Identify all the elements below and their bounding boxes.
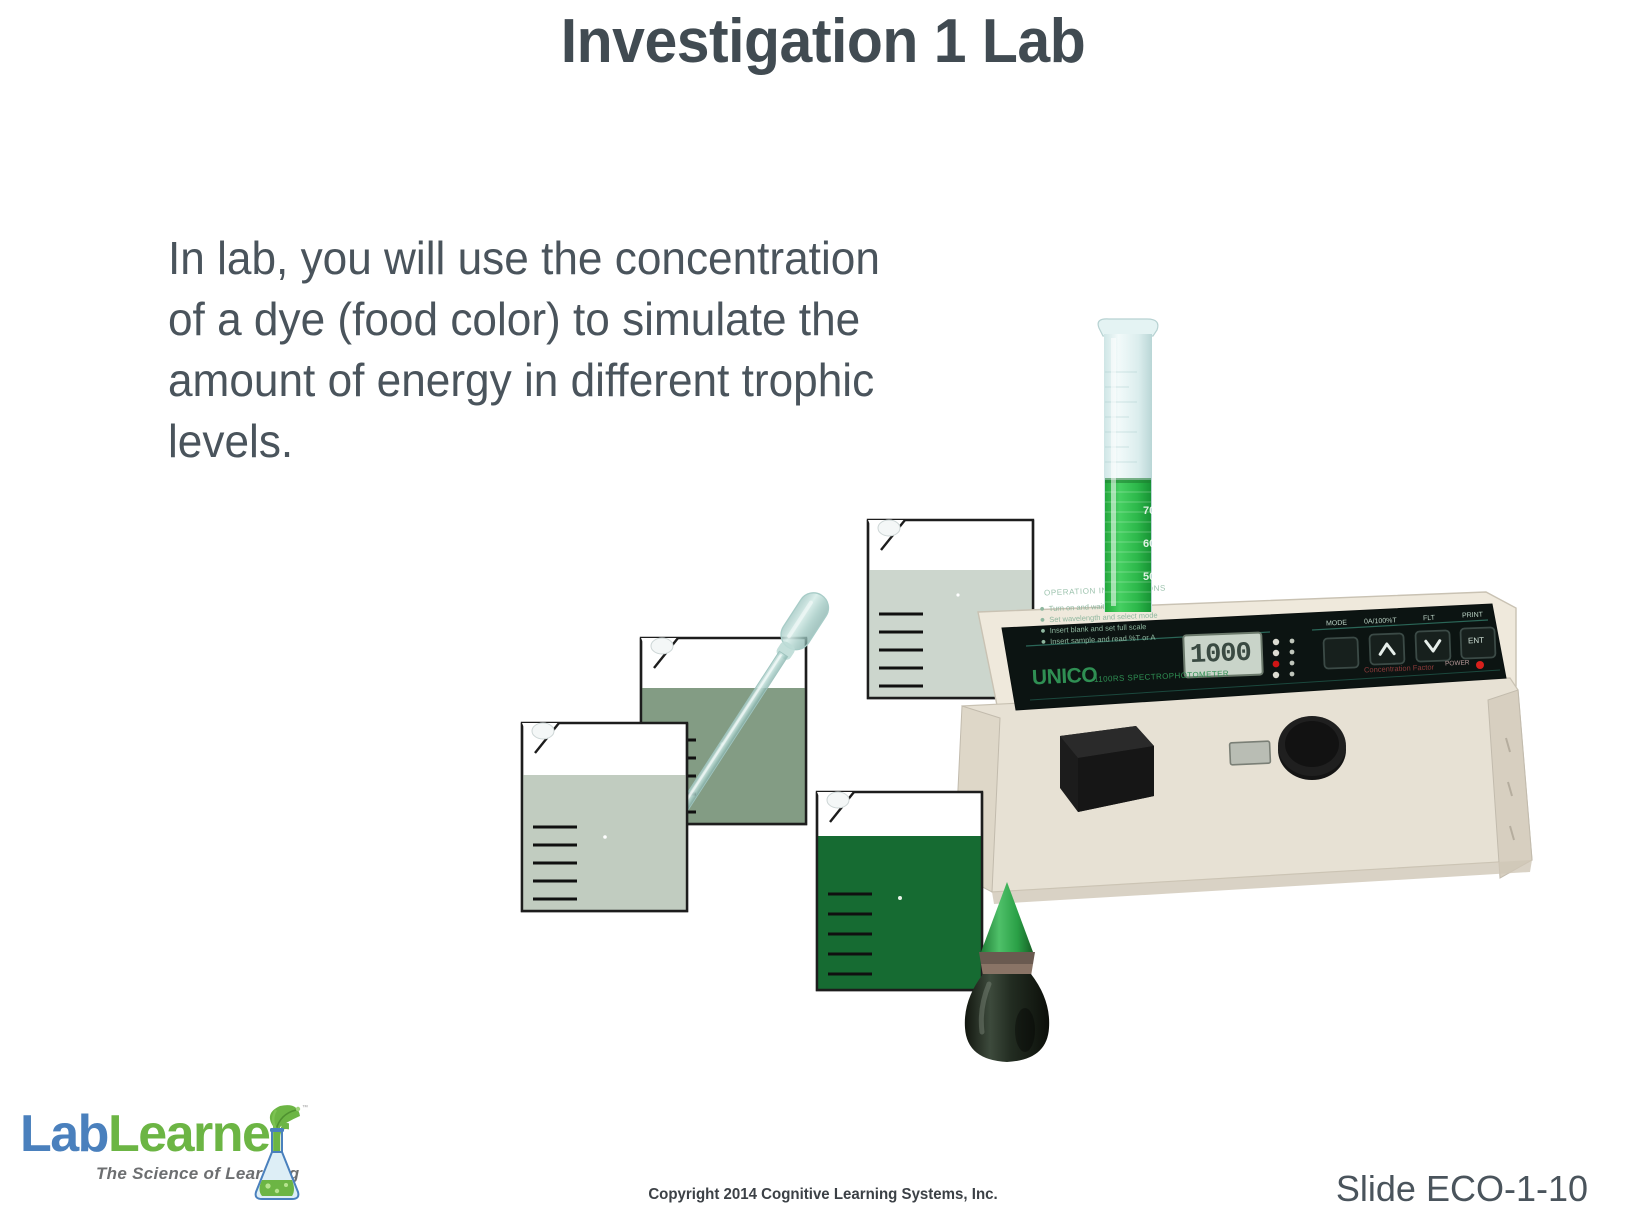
svg-text:™: ™: [302, 1104, 308, 1111]
rubber-bulb-dropper: [955, 880, 1065, 1065]
bullet-icon: ●: [1041, 637, 1047, 646]
bullet-icon: ●: [1039, 604, 1045, 613]
logo-word-lab: Lab: [20, 1105, 108, 1163]
slide-number: Slide ECO-1-10: [1336, 1168, 1588, 1210]
graduated-cylinder: 70 60 50: [1085, 312, 1177, 612]
spectrophotometer[interactable]: OPERATION INSTRUCTIONS ● Turn on and wai…: [940, 560, 1560, 920]
bullet-icon: ●: [1040, 626, 1046, 635]
flask-with-plant-icon: ™: [246, 1100, 312, 1209]
page-title: Investigation 1 Lab: [41, 6, 1605, 77]
cylinder-grad-50: 50: [1143, 571, 1155, 583]
slide-canvas: Investigation 1 Lab In lab, you will use…: [0, 0, 1646, 1232]
cylinder-grad-60: 60: [1143, 538, 1155, 550]
lablearner-logo[interactable]: LabLearner The Science of Learning ™: [18, 1098, 318, 1206]
body-paragraph: In lab, you will use the concentration o…: [168, 228, 898, 472]
bullet-icon: ●: [1040, 615, 1046, 624]
cylinder-grad-70: 70: [1143, 505, 1155, 517]
beaker-front-pale: [517, 717, 692, 917]
